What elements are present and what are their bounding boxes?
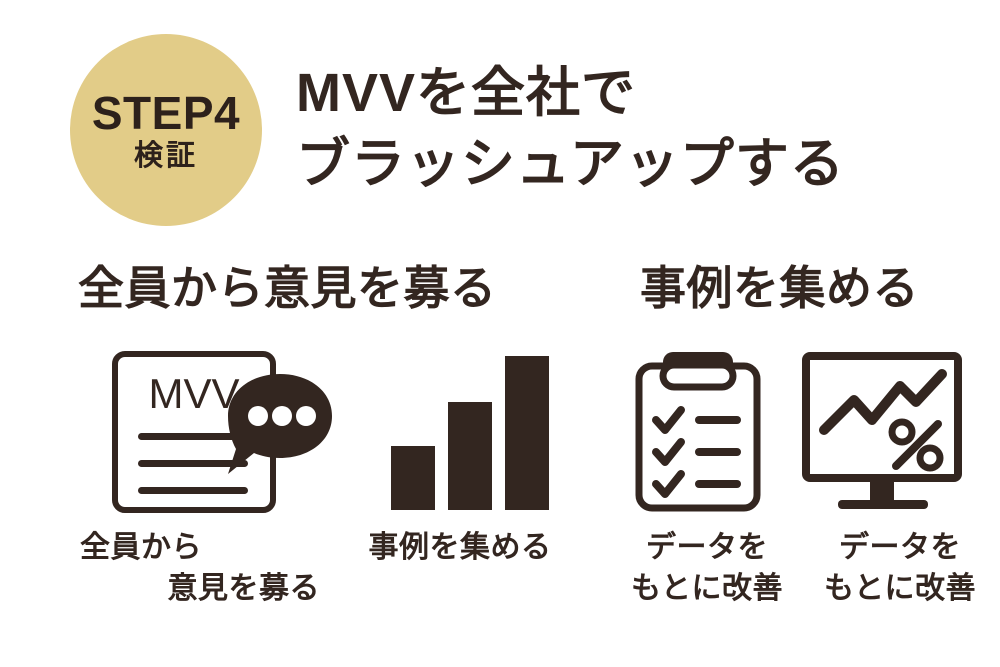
bar-1	[391, 446, 435, 510]
icon-document-with-speech-bubble: MVV	[110, 348, 370, 518]
bar-2	[448, 402, 492, 510]
icon-row: MVV	[0, 348, 1000, 518]
speech-bubble-dot-3	[296, 406, 316, 426]
caption-gather-opinions-line-2: 意見を募る	[80, 569, 320, 610]
section-heading-gather-opinions: 全員から意見を募る	[78, 262, 497, 315]
slide-root: STEP4 検証 MVVを全社で ブラッシュアップする 全員から意見を募る 事例…	[0, 0, 1000, 667]
caption-improve-with-data-2-line-2: もとに改善	[805, 569, 995, 610]
bar-chart-icon	[385, 348, 555, 518]
section-headings: 全員から意見を募る 事例を集める	[0, 262, 1000, 328]
page-title-line-2: ブラッシュアップする	[296, 129, 986, 200]
speech-bubble-dot-1	[248, 406, 268, 426]
caption-collect-cases: 事例を集める	[345, 528, 575, 569]
clipboard-clip	[663, 365, 733, 387]
caption-improve-with-data-2-line-1: データを	[805, 528, 995, 569]
speech-bubble-dot-2	[272, 406, 292, 426]
document-text-line-3	[138, 487, 248, 494]
step-badge-sub-label: 検証	[134, 142, 198, 171]
caption-improve-with-data-1-line-1: データを	[612, 528, 802, 569]
monitor-stand-base	[838, 500, 928, 509]
speech-bubble	[228, 374, 332, 474]
header: STEP4 検証 MVVを全社で ブラッシュアップする	[0, 0, 1000, 240]
step-badge: STEP4 検証	[70, 34, 262, 226]
caption-collect-cases-line-1: 事例を集める	[345, 528, 575, 569]
monitor-trend-percent-icon	[800, 348, 965, 518]
step-badge-step-label: STEP4	[92, 90, 240, 136]
icon-monitor-trend-percent	[800, 348, 965, 518]
caption-improve-with-data-1-line-2: もとに改善	[612, 569, 802, 610]
caption-gather-opinions-line-1: 全員から	[80, 528, 320, 569]
document-with-speech-bubble-icon: MVV	[110, 348, 370, 518]
check-line-3	[695, 480, 741, 488]
caption-improve-with-data-1: データを もとに改善	[612, 528, 802, 609]
icon-bar-chart	[385, 348, 555, 518]
section-heading-collect-cases: 事例を集める	[640, 262, 919, 315]
icon-clipboard-checklist	[625, 348, 775, 518]
page-title: MVVを全社で ブラッシュアップする	[296, 58, 986, 201]
bar-3	[505, 356, 549, 510]
document-mvv-label: MVV	[148, 370, 239, 417]
check-line-2	[695, 448, 741, 456]
clipboard-checklist-icon	[625, 348, 775, 518]
caption-gather-opinions: 全員から 意見を募る	[80, 528, 320, 609]
caption-row: 全員から 意見を募る 事例を集める データを もとに改善 データを もとに改善	[0, 528, 1000, 638]
check-line-1	[695, 416, 741, 424]
page-title-line-1: MVVを全社で	[296, 58, 986, 129]
caption-improve-with-data-2: データを もとに改善	[805, 528, 995, 609]
